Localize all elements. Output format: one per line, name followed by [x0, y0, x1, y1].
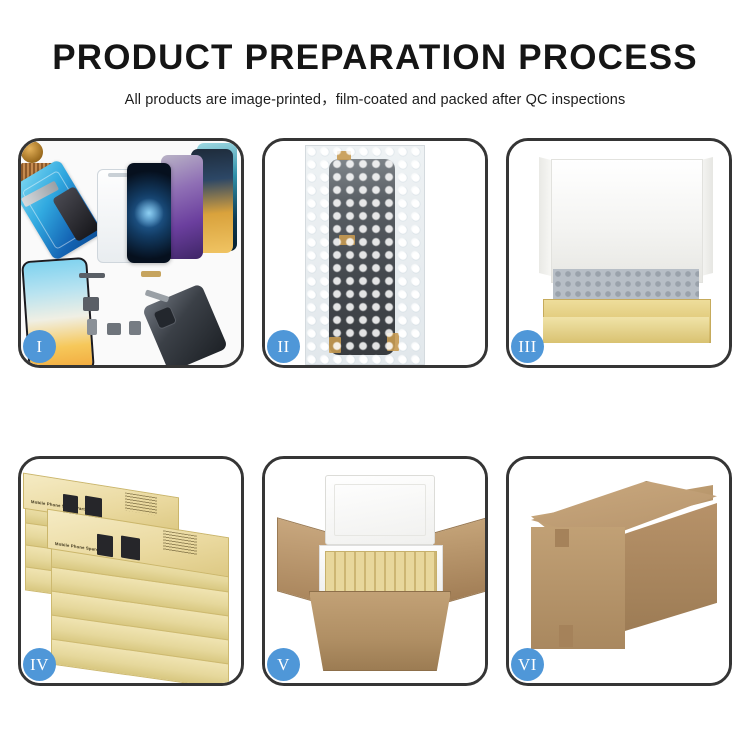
step-6-image: [509, 459, 729, 683]
vibrator-part: [107, 323, 121, 335]
step-panel-5: V: [262, 456, 488, 686]
step-panel-6: VI: [506, 456, 732, 686]
kraft-box-front: [543, 317, 709, 343]
step-badge-5: V: [267, 648, 300, 681]
page-subtitle: All products are image-printed，film-coat…: [0, 88, 750, 109]
tape-bottom-left: [329, 337, 341, 353]
step-4-image: Mobile Phone Spare Parts Mobile Phone Sp…: [21, 459, 241, 683]
step-2-image: [265, 141, 485, 365]
kraft-boxes-inside: [325, 551, 437, 597]
page-title: PRODUCT PREPARATION PROCESS: [0, 40, 750, 77]
carton-tape-lower: [559, 625, 573, 647]
box-photo-front-2: [121, 535, 140, 560]
step-badge-3: III: [511, 330, 544, 363]
oled-phone-display: [127, 163, 171, 263]
flex-cable-part: [79, 273, 105, 278]
step-panel-4: Mobile Phone Spare Parts Mobile Phone Sp…: [18, 456, 244, 686]
step-5-image: [265, 459, 485, 683]
step-panel-3: III: [506, 138, 732, 368]
step-panel-2: II: [262, 138, 488, 368]
bubble-wrap-padding: [553, 269, 699, 301]
step-3-image: [509, 141, 729, 365]
button-part: [129, 321, 141, 335]
bracket-part: [83, 297, 99, 311]
step-badge-1: I: [23, 330, 56, 363]
box-photo-front-1: [97, 534, 113, 558]
step-badge-4: IV: [23, 648, 56, 681]
tape-top: [337, 151, 351, 160]
step-badge-2: II: [267, 330, 300, 363]
carton-body: [309, 591, 451, 671]
poster-header: PRODUCT PREPARATION PROCESS All products…: [0, 0, 750, 109]
carton-front-face: [531, 527, 625, 649]
product-preparation-poster: PRODUCT PREPARATION PROCESS All products…: [0, 0, 750, 750]
carton-tape-upper: [555, 529, 569, 547]
tape-middle: [339, 235, 355, 245]
camera-module-part: [87, 319, 97, 335]
step-badge-6: VI: [511, 648, 544, 681]
tape-bottom-right: [387, 333, 399, 351]
wrapped-phone-screen: [329, 159, 395, 355]
process-step-grid: I II III: [18, 138, 732, 686]
speaker-coil-part: [21, 141, 43, 163]
box-white-lid: [551, 159, 703, 283]
step-panel-1: I: [18, 138, 244, 368]
step-1-image: [21, 141, 241, 365]
foam-box-lid: [325, 475, 435, 545]
gold-contact-part: [141, 271, 161, 277]
